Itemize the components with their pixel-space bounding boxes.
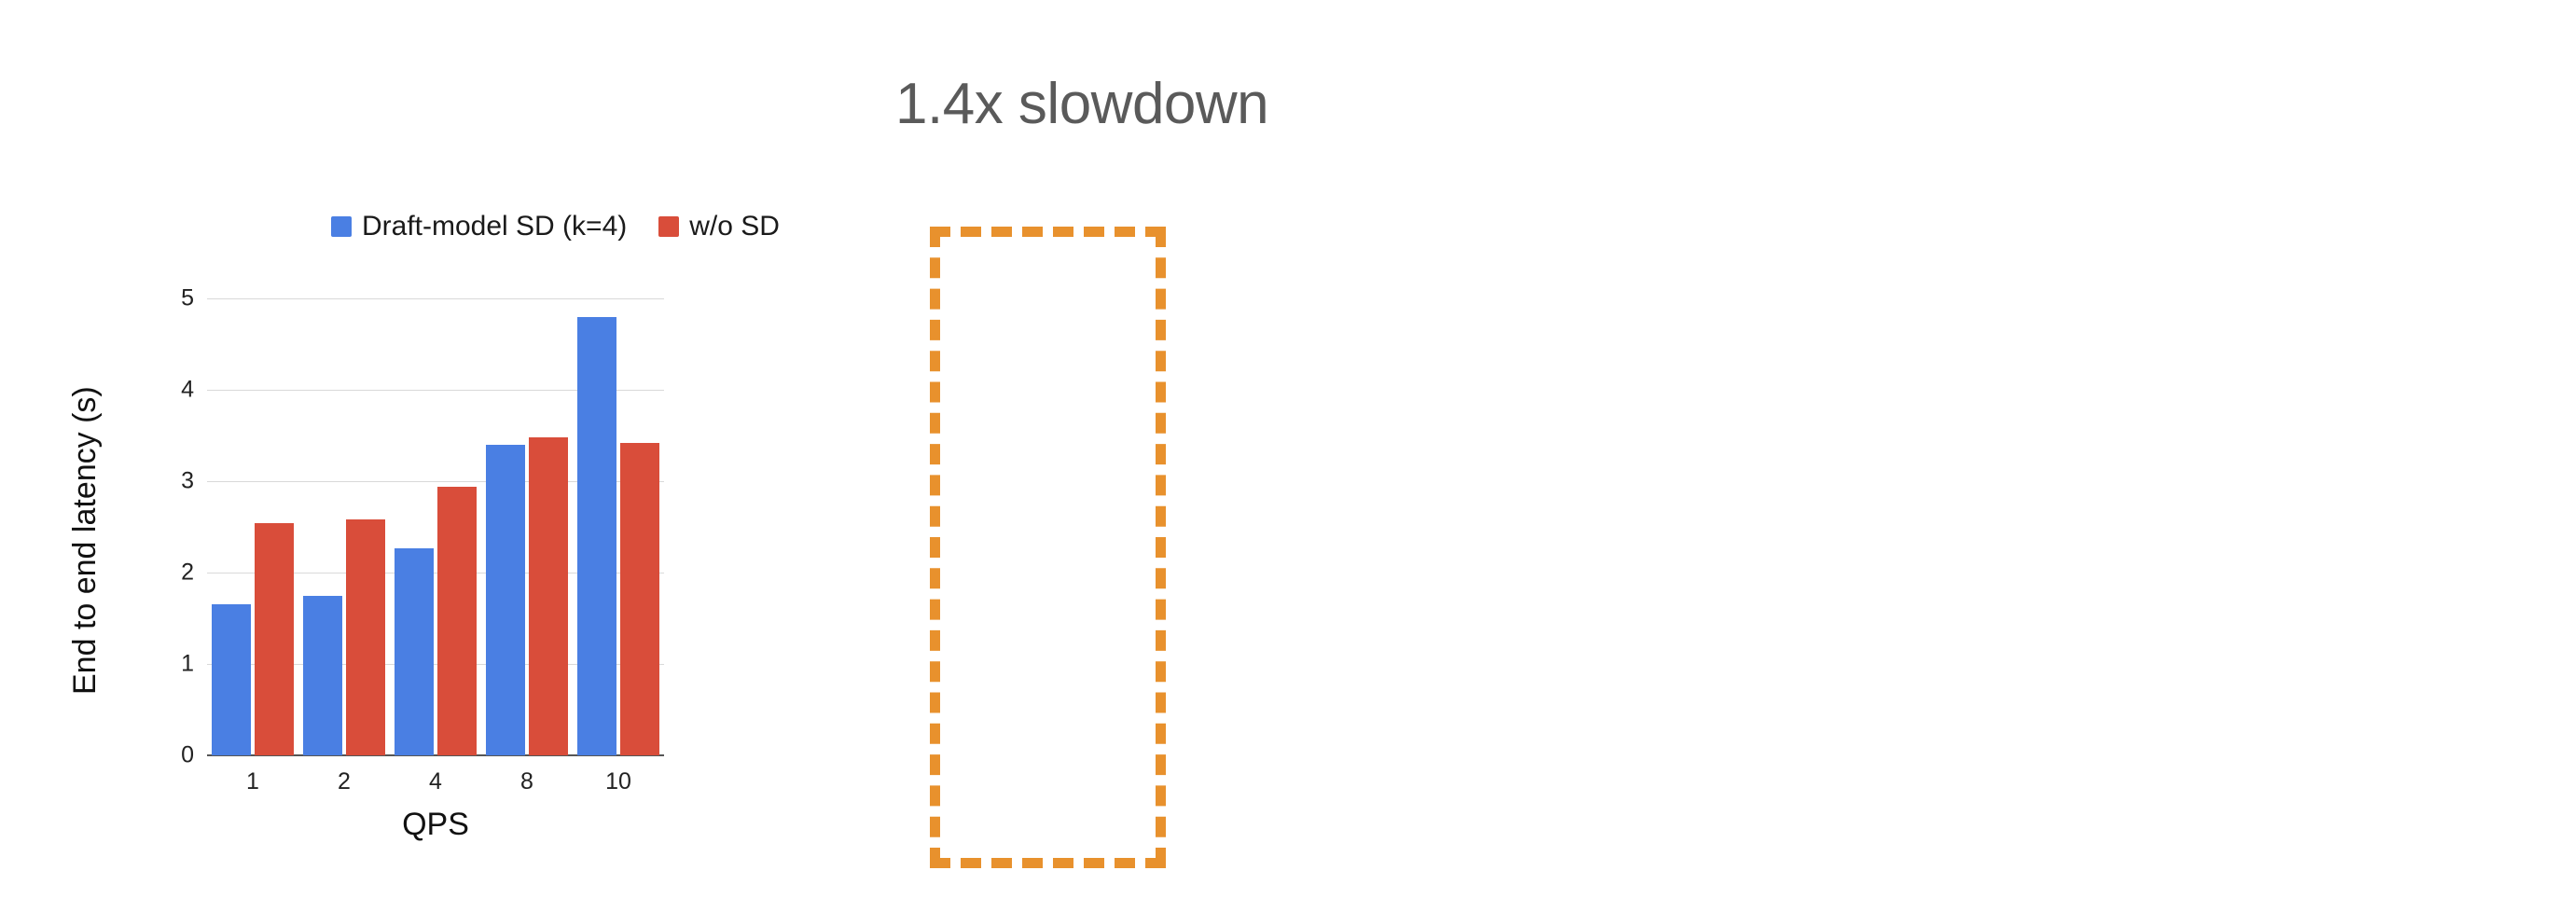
legend-label-wo-sd: w/o SD	[689, 211, 780, 242]
x-axis-tick-label: 2	[298, 768, 390, 795]
bar-series-red	[346, 519, 385, 755]
y-axis-tick-label: 5	[153, 285, 194, 312]
x-axis-tick-label: 4	[390, 768, 481, 795]
y-axis-tick-label: 1	[153, 651, 194, 678]
bar-series-blue	[577, 317, 616, 755]
bar-series-red	[255, 523, 294, 755]
y-axis-title-left: End to end latency (s)	[67, 386, 104, 695]
bar-series-red	[620, 443, 659, 755]
slide-root: 1.4x slowdown Draft-model SD (k=4) w/o S…	[0, 0, 2576, 912]
legend-swatch-red-icon	[658, 216, 679, 237]
x-axis-tick-label: 10	[573, 768, 664, 795]
plot-area-left: 012345124810	[207, 298, 664, 755]
legend-item-wo-sd: w/o SD	[658, 211, 780, 242]
x-axis-tick-label: 8	[481, 768, 573, 795]
x-axis-title-left: QPS	[207, 807, 664, 843]
y-axis-tick-label: 0	[153, 742, 194, 769]
bar-series-blue	[212, 604, 251, 755]
y-axis-tick-label: 4	[153, 377, 194, 404]
bar-series-red	[437, 487, 477, 755]
legend-label-draft-model-sd: Draft-model SD (k=4)	[362, 211, 627, 242]
y-axis-tick-label: 3	[153, 468, 194, 495]
slide-title-left: 1.4x slowdown	[895, 71, 1268, 137]
bar-series-blue	[395, 548, 434, 755]
bar-series-blue	[486, 445, 525, 755]
bar-series-blue	[303, 596, 342, 755]
chart-legend-left: Draft-model SD (k=4) w/o SD	[331, 211, 780, 242]
legend-swatch-blue-icon	[331, 216, 352, 237]
x-axis-tick-label: 1	[207, 768, 298, 795]
legend-item-draft-model-sd: Draft-model SD (k=4)	[331, 211, 627, 242]
chart-panel-left: 1.4x slowdown Draft-model SD (k=4) w/o S…	[0, 0, 1288, 912]
highlight-box-qps-10	[930, 227, 1166, 868]
bar-series-red	[529, 437, 568, 755]
chart-panel-right: 1.8x slowdown Ngram SD (k=4) w/o SD End …	[1288, 0, 2576, 912]
gridline	[207, 298, 664, 299]
y-axis-tick-label: 2	[153, 560, 194, 587]
